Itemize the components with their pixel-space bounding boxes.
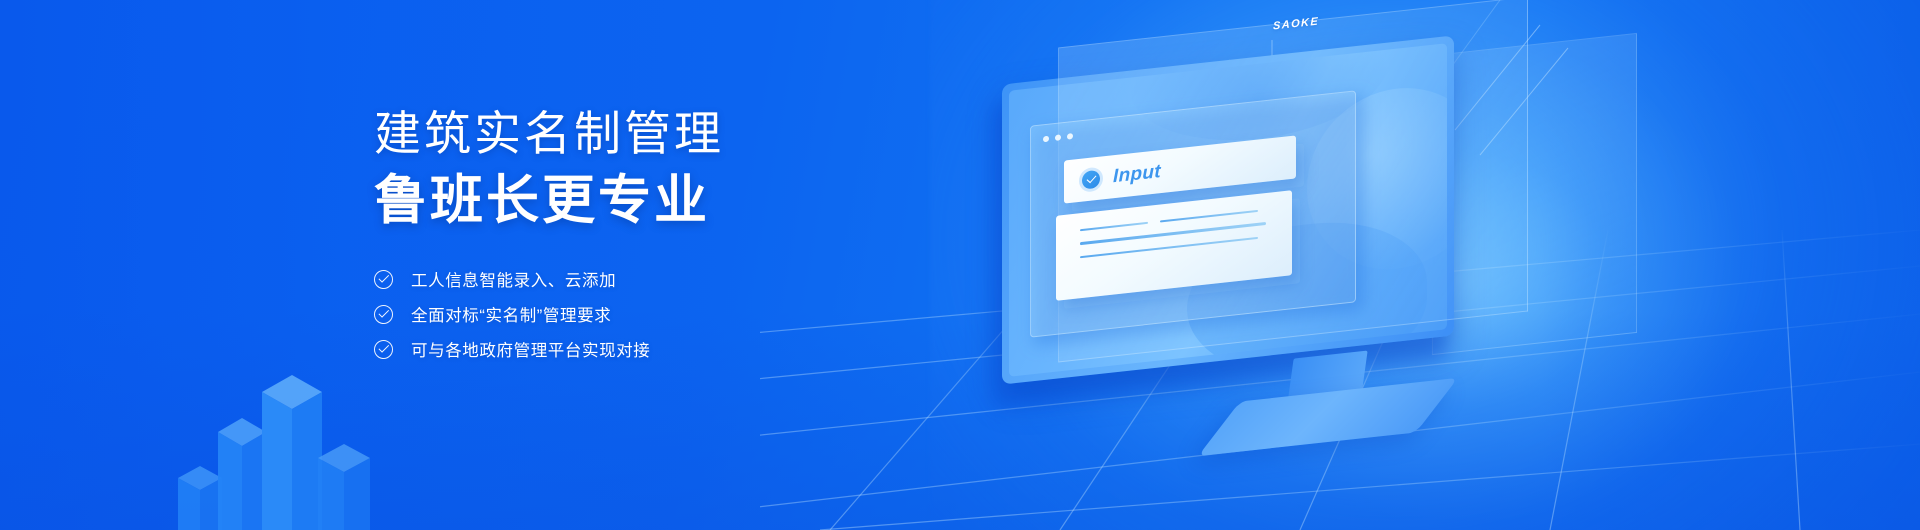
headline-primary: 建筑实名制管理	[374, 104, 804, 164]
content-line	[1080, 222, 1148, 232]
check-circle-icon	[374, 340, 393, 359]
hero-banner: 建筑实名制管理 鲁班长更专业 工人信息智能录入、云添加 全面对标“实名制”管理要…	[0, 0, 1920, 530]
feature-label: 可与各地政府管理平台实现对接	[411, 337, 650, 361]
headline-secondary: 鲁班长更专业	[374, 168, 804, 234]
content-line	[1160, 210, 1258, 223]
feature-label: 工人信息智能录入、云添加	[411, 267, 616, 291]
input-card-label: Input	[1113, 161, 1161, 188]
feature-item: 可与各地政府管理平台实现对接	[374, 332, 804, 366]
monitor-illustration: SAOKE Input	[820, 0, 1920, 530]
check-circle-filled-icon	[1082, 169, 1100, 189]
check-circle-icon	[374, 305, 393, 324]
feature-item: 全面对标“实名制”管理要求	[374, 297, 804, 331]
window-controls	[1043, 133, 1073, 142]
bar-chart-decoration	[160, 370, 400, 530]
window-dot-icon	[1043, 136, 1049, 143]
feature-label: 全面对标“实名制”管理要求	[411, 302, 611, 326]
content-line-row	[1080, 209, 1270, 232]
check-circle-icon	[374, 270, 393, 289]
feature-item: 工人信息智能录入、云添加	[374, 262, 804, 296]
window-dot-icon	[1055, 134, 1061, 141]
hero-copy: 建筑实名制管理 鲁班长更专业 工人信息智能录入、云添加 全面对标“实名制”管理要…	[374, 104, 804, 367]
window-dot-icon	[1067, 133, 1073, 140]
feature-list: 工人信息智能录入、云添加 全面对标“实名制”管理要求 可与各地政府管理平台实现对…	[374, 262, 804, 366]
